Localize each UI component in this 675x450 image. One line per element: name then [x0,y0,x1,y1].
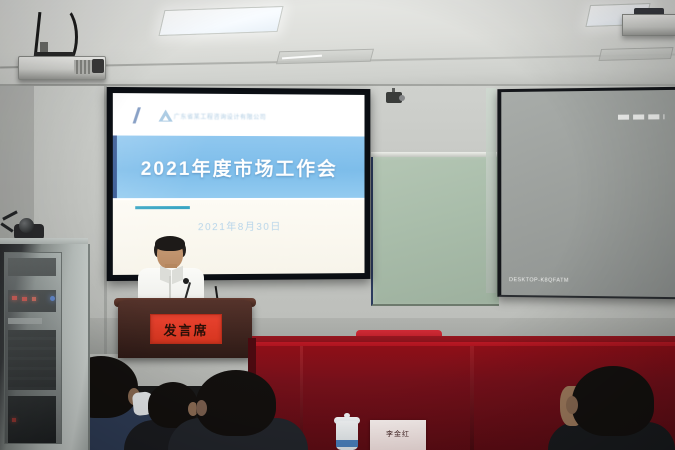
screen-side-strip [486,88,496,293]
rack-glass-door [4,252,62,444]
slide-accent-underline [135,206,190,209]
projector-icon [622,14,675,36]
slide-body [113,200,365,275]
ceiling-light-icon [158,6,283,36]
screen-surface [501,90,675,297]
table-shadow [252,336,675,342]
name-card: 李金红 [370,420,426,450]
projection-screen-left: 广东省某工程咨询设计有限公司 2021年度市场工作会 2021年8月30日 [107,87,371,281]
projector-lens [92,59,104,73]
teacup-knob [344,413,350,418]
audience-person-head [572,366,654,436]
microphone-icon [183,278,189,284]
company-logo-inner [163,116,169,121]
projector-vent [74,60,92,74]
podium-plaque-text: 发言席 [151,320,221,339]
projection-screen-right: DESKTOP-K8QFATM [497,87,675,299]
logo-slash-icon [133,107,141,123]
recessed-light-fixture [598,47,673,61]
camera-lens [19,218,34,233]
computer-name-label: DESKTOP-K8QFATM [509,277,569,284]
audience-person-ear [196,400,207,416]
podium-plaque: 发言席 [150,314,222,344]
company-name-text: 广东省某工程咨询设计有限公司 [174,112,267,122]
conference-room-photo: 广东省某工程咨询设计有限公司 2021年度市场工作会 2021年8月30日 DE… [0,0,675,450]
name-card-text: 李金红 [370,429,426,439]
slide-date: 2021年8月30日 [113,218,365,234]
teacup-band [336,440,358,447]
whiteboard-rail [371,152,497,157]
slide-header: 广东省某工程咨询设计有限公司 [113,93,365,136]
slide-title: 2021年度市场工作会 [113,154,365,181]
audience-person-head [196,370,276,436]
presentation-slide: 广东省某工程咨询设计有限公司 2021年度市场工作会 2021年8月30日 [113,93,365,275]
green-whiteboard [371,154,499,306]
screen-top-marks [618,114,664,119]
camera-lens [399,95,405,101]
drape-fold [470,346,474,450]
speaker-hair [155,236,185,251]
audience-person-ear [566,396,578,414]
